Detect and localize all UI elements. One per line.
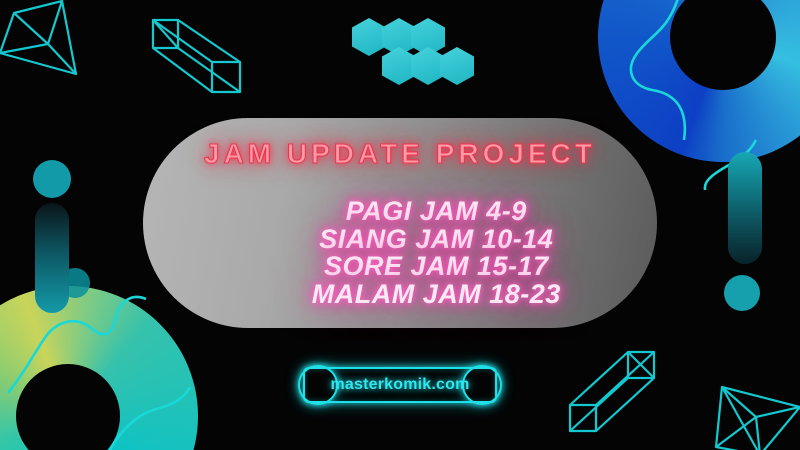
exclamation-glyph-bar-icon [728,152,762,264]
hexagon-cluster-icon [352,18,492,90]
ring-hole [16,364,120,450]
small-teal-circle-icon [60,268,90,298]
wireframe-tetrahedron-icon [0,0,90,86]
schedule-item: SORE JAM 15-17 [271,253,601,281]
schedule-list: PAGI JAM 4-9 SIANG JAM 10-14 SORE JAM 15… [271,198,601,308]
ring-hole [670,0,776,90]
hexagon-icon [352,18,386,56]
schedule-item: MALAM JAM 18-23 [271,281,601,309]
gradient-ring-teal-lime-icon [0,286,198,450]
poster-canvas: JAM UPDATE PROJECT PAGI JAM 4-9 SIANG JA… [0,0,800,450]
schedule-item: PAGI JAM 4-9 [271,198,601,226]
wireframe-prism-icon [146,10,276,120]
info-i-glyph-dot-icon [33,160,71,198]
wireframe-prism-icon [560,330,700,450]
hexagon-icon [382,18,416,56]
page-title: JAM UPDATE PROJECT [143,138,657,170]
hexagon-icon [411,18,445,56]
wireframe-tetrahedron-icon [700,365,800,450]
hexagon-icon [440,47,474,85]
hexagon-icon [411,47,445,85]
website-badge[interactable]: masterkomik.com [303,367,497,403]
info-i-glyph-bar-icon [35,203,69,313]
content-panel: JAM UPDATE PROJECT PAGI JAM 4-9 SIANG JA… [143,118,657,328]
schedule-item: SIANG JAM 10-14 [271,226,601,254]
exclamation-glyph-dot-icon [724,275,760,311]
hexagon-icon [382,47,416,85]
website-url-text: masterkomik.com [303,367,497,403]
